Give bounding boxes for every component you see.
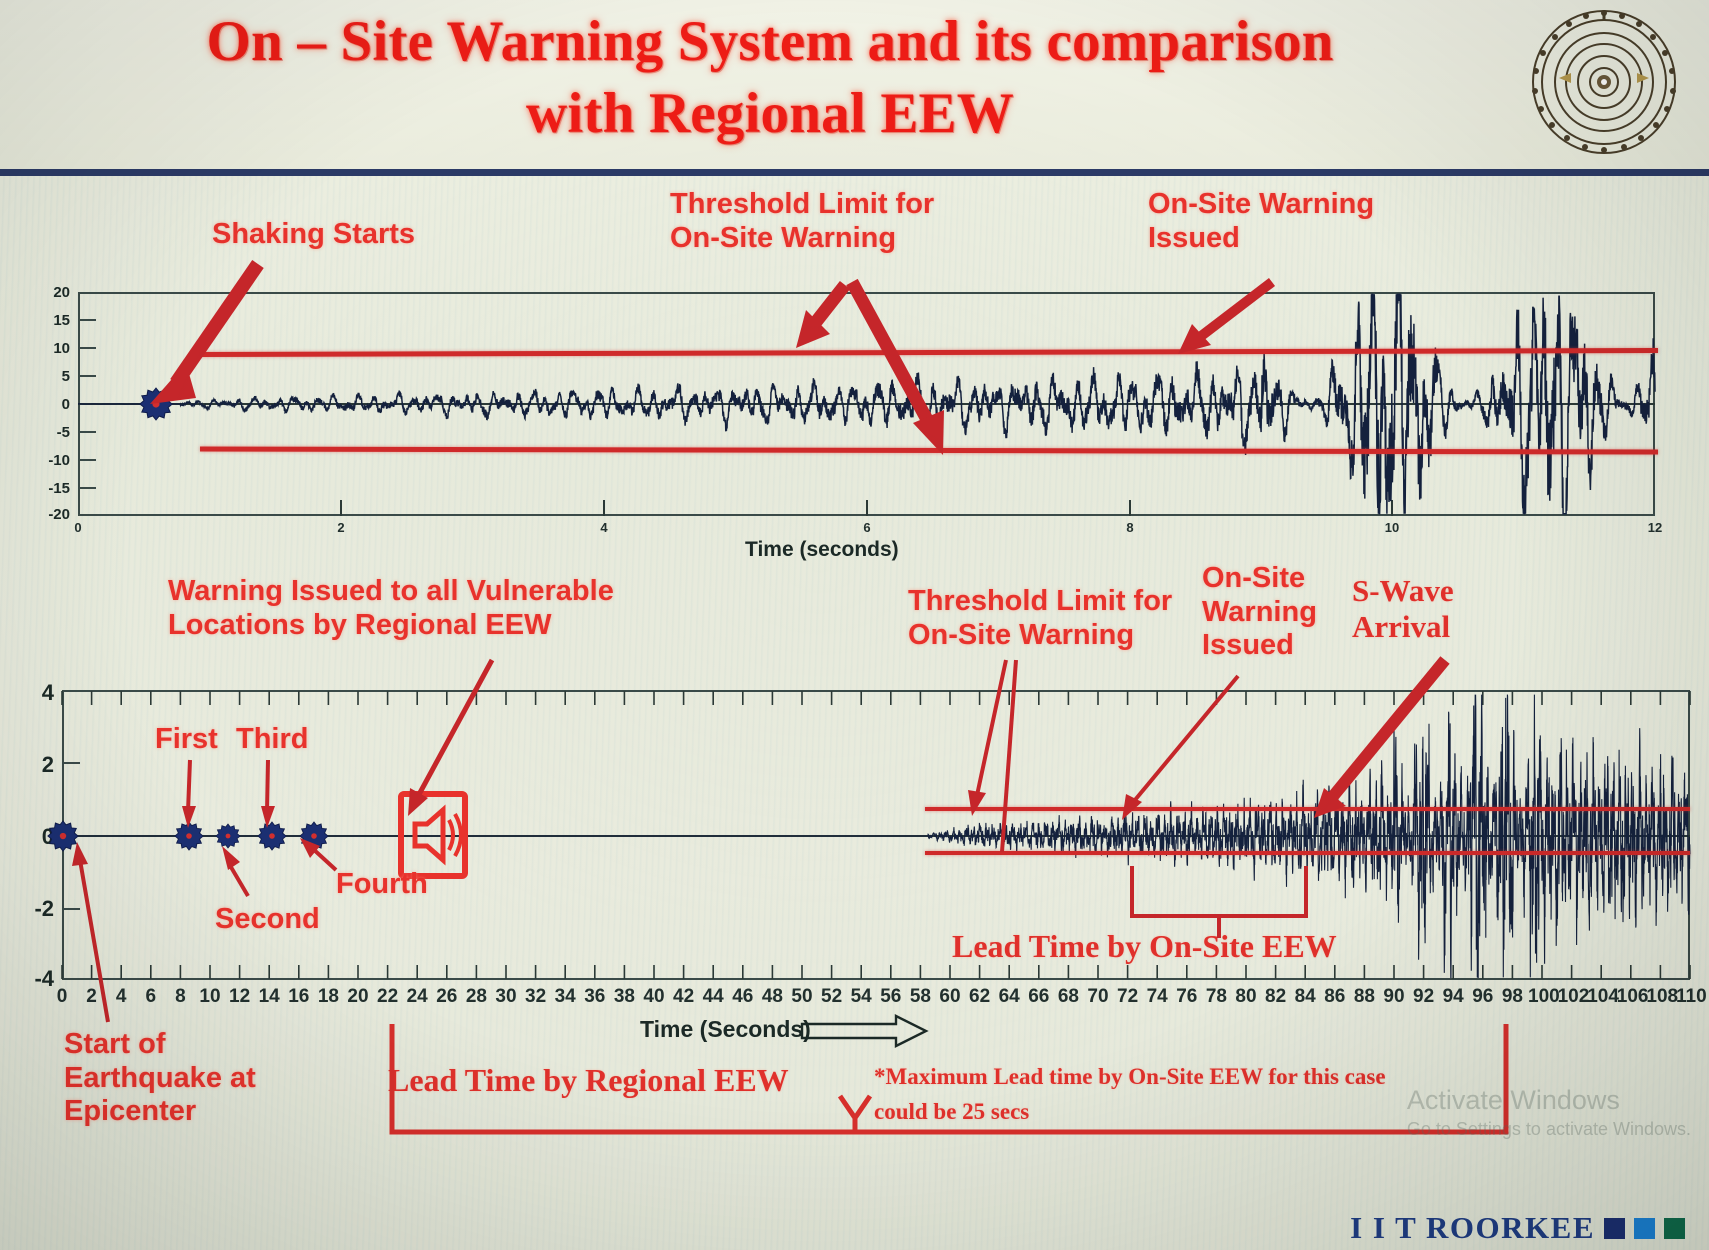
bottom-xtick-40: 40: [640, 986, 668, 1008]
bottom-xtick-8: 8: [166, 986, 194, 1008]
top-xaxis-title: Time (seconds): [745, 538, 899, 562]
annotation-start-of-earthquake: Start of Earthquake at Epicenter: [64, 1028, 256, 1129]
annotation-third: Third: [236, 723, 309, 757]
bottom-xtick-98: 98: [1498, 986, 1526, 1008]
bottom-xtick-56: 56: [877, 986, 905, 1008]
bottom-xtick-18: 18: [314, 986, 342, 1008]
first-warning-marker: [175, 822, 205, 852]
top-xtick-2: 2: [329, 520, 353, 535]
bottom-xtick-84: 84: [1291, 986, 1319, 1008]
bottom-upper-threshold-line: [925, 807, 1690, 811]
annotation-fourth: Fourth: [336, 868, 428, 902]
bottom-xtick-50: 50: [788, 986, 816, 1008]
top-xtick-12: 12: [1643, 520, 1667, 535]
annotation-lead-time-onsite: Lead Time by On-Site EEW: [952, 928, 1337, 965]
footer-swatch-2: [1634, 1218, 1655, 1239]
bottom-xtick-24: 24: [403, 986, 431, 1008]
bottom-xtick-52: 52: [818, 986, 846, 1008]
bottom-xtick-34: 34: [551, 986, 579, 1008]
bottom-xtick-46: 46: [729, 986, 757, 1008]
bottom-xtick-labels: 0246810121416182022242628303234363840424…: [0, 986, 1709, 1016]
bottom-xtick-100: 100: [1528, 986, 1556, 1008]
activate-windows-watermark: Activate Windows Go to Settings to activ…: [1407, 1084, 1691, 1140]
time-direction-arrow-icon: [800, 1014, 930, 1048]
footer-swatch-1: [1604, 1218, 1625, 1239]
siren-speaker-icon: [399, 792, 467, 878]
annotation-second: Second: [215, 903, 320, 937]
footer-swatch-3: [1664, 1218, 1685, 1239]
bottom-xaxis-title: Time (Seconds): [640, 1016, 811, 1043]
bottom-xtick-102: 102: [1558, 986, 1586, 1008]
iit-roorkee-emblem-icon: [1529, 8, 1679, 160]
top-xtick-10: 10: [1380, 520, 1404, 535]
watermark-line1: Activate Windows: [1407, 1084, 1691, 1118]
slide-canvas: On – Site Warning System and its compari…: [0, 0, 1709, 1250]
bottom-xtick-92: 92: [1410, 986, 1438, 1008]
bottom-xtick-72: 72: [1114, 986, 1142, 1008]
bottom-xtick-106: 106: [1617, 986, 1645, 1008]
bottom-xtick-90: 90: [1380, 986, 1408, 1008]
bottom-xtick-74: 74: [1143, 986, 1171, 1008]
bottom-xtick-30: 30: [492, 986, 520, 1008]
bottom-xtick-44: 44: [699, 986, 727, 1008]
bottom-xtick-36: 36: [581, 986, 609, 1008]
top-xtick-0: 0: [66, 520, 90, 535]
bottom-xtick-64: 64: [995, 986, 1023, 1008]
bottom-xtick-22: 22: [374, 986, 402, 1008]
fourth-warning-marker: [300, 822, 330, 852]
bottom-xtick-60: 60: [936, 986, 964, 1008]
iit-roorkee-footer: I I T ROORKEE: [1350, 1210, 1685, 1246]
bottom-xtick-110: 110: [1676, 986, 1704, 1008]
bottom-xtick-32: 32: [522, 986, 550, 1008]
annotation-shaking-starts: Shaking Starts: [212, 218, 415, 252]
annotation-regional-warning: Warning Issued to all Vulnerable Locatio…: [168, 575, 614, 642]
bottom-xtick-94: 94: [1439, 986, 1467, 1008]
annotation-footnote: *Maximum Lead time by On-Site EEW for th…: [874, 1060, 1386, 1129]
bottom-xtick-48: 48: [758, 986, 786, 1008]
bottom-xtick-12: 12: [226, 986, 254, 1008]
bottom-xtick-78: 78: [1202, 986, 1230, 1008]
shaking-start-marker: [140, 388, 170, 418]
footer-brand: I I T ROORKEE: [1350, 1210, 1595, 1246]
second-warning-marker: [216, 824, 246, 854]
bottom-xtick-2: 2: [78, 986, 106, 1008]
bottom-xtick-108: 108: [1646, 986, 1674, 1008]
bottom-xtick-54: 54: [847, 986, 875, 1008]
bottom-xtick-88: 88: [1350, 986, 1378, 1008]
top-xtick-4: 4: [592, 520, 616, 535]
bottom-xtick-104: 104: [1587, 986, 1615, 1008]
bottom-xtick-6: 6: [137, 986, 165, 1008]
bottom-xtick-26: 26: [433, 986, 461, 1008]
slide-header: On – Site Warning System and its compari…: [0, 0, 1709, 176]
bottom-xtick-10: 10: [196, 986, 224, 1008]
bottom-xtick-96: 96: [1469, 986, 1497, 1008]
bottom-xtick-80: 80: [1232, 986, 1260, 1008]
bottom-xtick-14: 14: [255, 986, 283, 1008]
bottom-xtick-82: 82: [1262, 986, 1290, 1008]
bottom-xtick-20: 20: [344, 986, 372, 1008]
annotation-top-warning-issued: On-Site Warning Issued: [1148, 188, 1374, 255]
bottom-xtick-28: 28: [462, 986, 490, 1008]
annotation-bottom-threshold-limit: Threshold Limit for On-Site Warning: [908, 585, 1172, 652]
bottom-xtick-70: 70: [1084, 986, 1112, 1008]
start-of-earthquake-marker: [48, 821, 78, 851]
bottom-xtick-38: 38: [610, 986, 638, 1008]
third-warning-marker: [258, 822, 288, 852]
annotation-lead-time-regional: Lead Time by Regional EEW: [388, 1062, 789, 1099]
top-xtick-6: 6: [855, 520, 879, 535]
bottom-xtick-76: 76: [1173, 986, 1201, 1008]
bottom-xtick-58: 58: [906, 986, 934, 1008]
bottom-xtick-66: 66: [1025, 986, 1053, 1008]
bottom-xtick-62: 62: [966, 986, 994, 1008]
bottom-xtick-4: 4: [107, 986, 135, 1008]
annotation-s-wave-arrival: S-Wave Arrival: [1352, 573, 1454, 645]
bottom-xtick-68: 68: [1054, 986, 1082, 1008]
annotation-bottom-onsite-warning-issued: On-Site Warning Issued: [1202, 562, 1317, 663]
watermark-line2: Go to Settings to activate Windows.: [1407, 1118, 1691, 1141]
annotation-first: First: [155, 723, 218, 757]
annotation-top-threshold-limit: Threshold Limit for On-Site Warning: [670, 188, 934, 255]
bottom-xtick-16: 16: [285, 986, 313, 1008]
top-xtick-8: 8: [1118, 520, 1142, 535]
page-title: On – Site Warning System and its compari…: [170, 6, 1370, 150]
bottom-xtick-0: 0: [48, 986, 76, 1008]
bottom-lower-threshold-line: [925, 851, 1690, 855]
bottom-xtick-42: 42: [670, 986, 698, 1008]
bottom-xtick-86: 86: [1321, 986, 1349, 1008]
